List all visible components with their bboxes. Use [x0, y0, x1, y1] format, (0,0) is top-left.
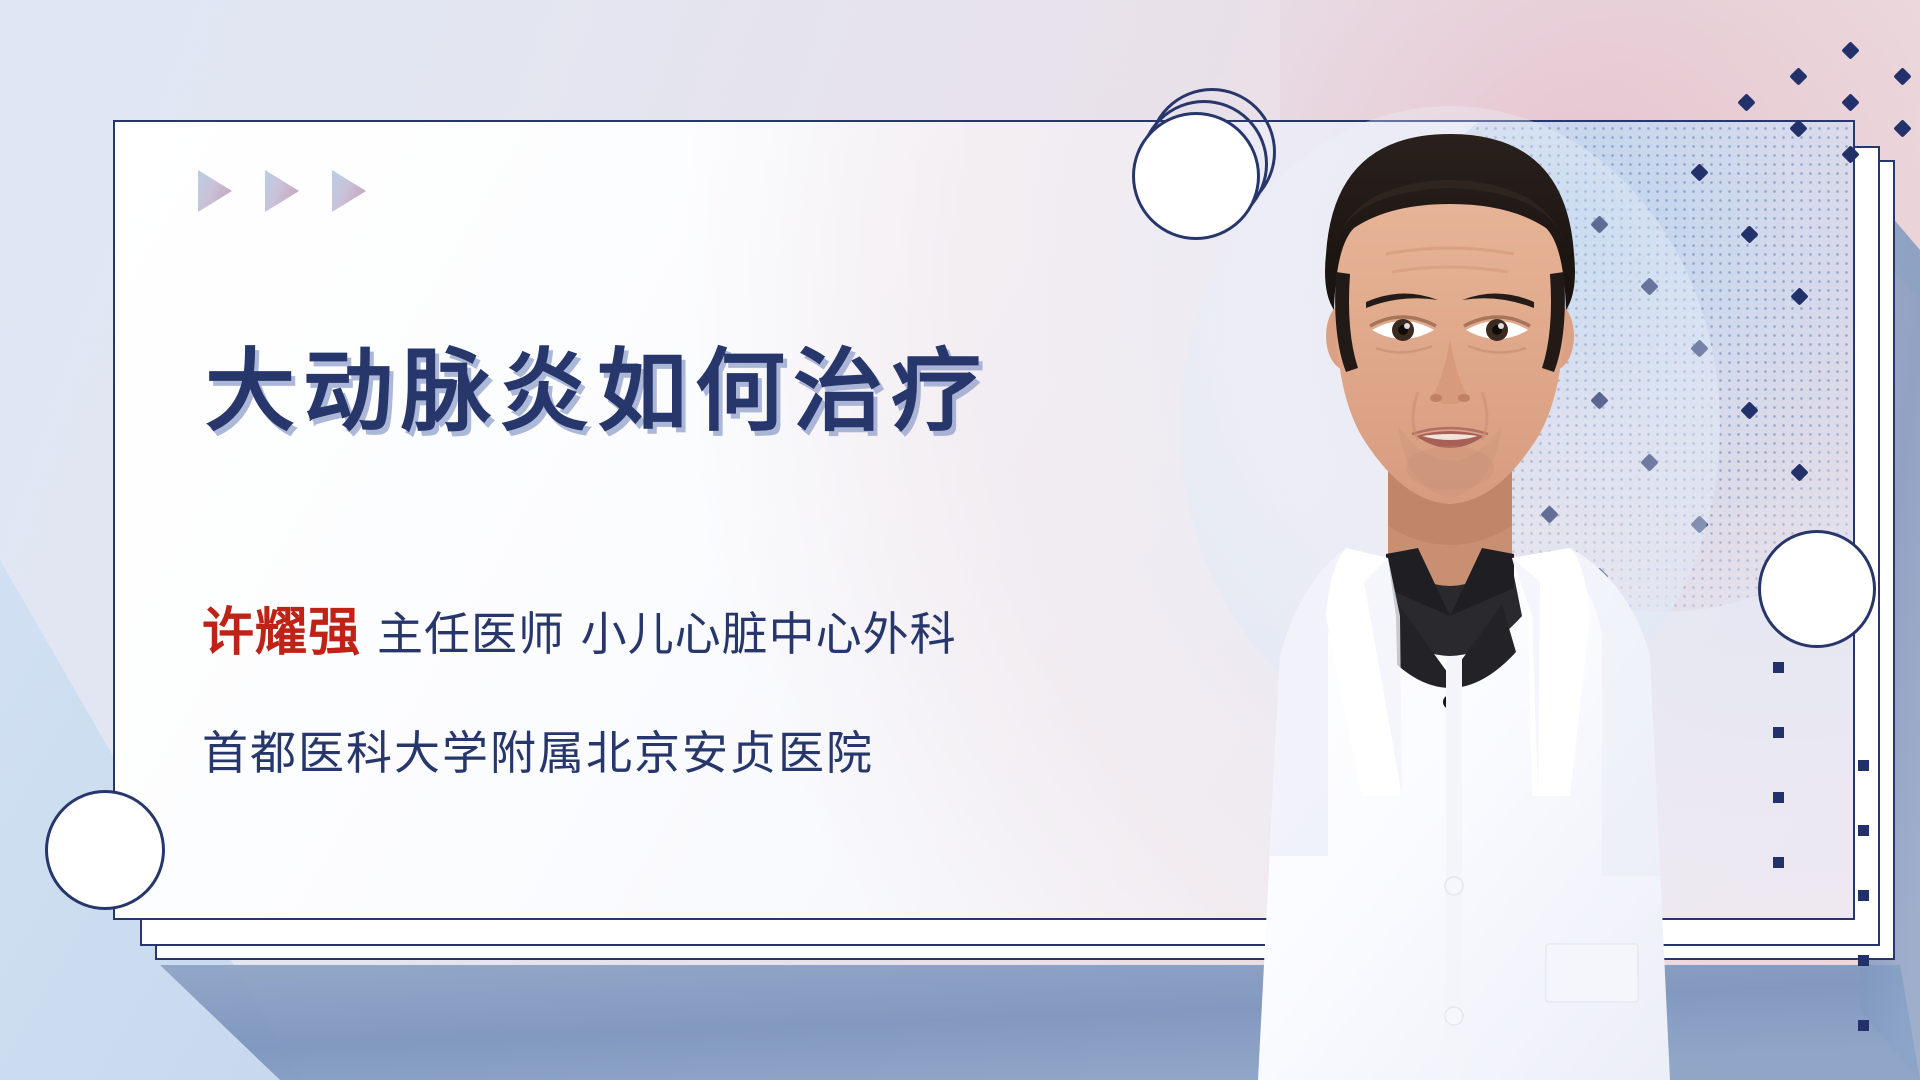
circle-outline-icon: [1132, 112, 1260, 240]
diamond-dot-icon: [1893, 67, 1911, 85]
halftone-circle-icon: [1383, 120, 1855, 612]
square-dot-icon: [1858, 1020, 1869, 1031]
square-dot-icon: [1858, 760, 1869, 771]
square-dot-icon: [1858, 955, 1869, 966]
diamond-dot-icon: [1841, 41, 1859, 59]
arrow-decoration-group: [198, 170, 366, 212]
square-dot-column-outer: [1858, 760, 1878, 1040]
diamond-dot-icon: [1789, 67, 1807, 85]
square-dot-icon: [1773, 662, 1784, 673]
square-dot-icon: [1773, 792, 1784, 803]
doctor-credentials-line: 许耀强 主任医师 小儿心脏中心外科: [202, 590, 957, 665]
diamond-dot-icon: [1737, 93, 1755, 111]
square-dot-icon: [1773, 727, 1784, 738]
play-triangle-icon: [198, 170, 232, 212]
diamond-dot-icon: [1841, 93, 1859, 111]
play-triangle-icon: [332, 170, 366, 212]
page-title: 大动脉炎如何治疗: [205, 318, 989, 448]
doctor-role: 主任医师 小儿心脏中心外科: [377, 598, 957, 664]
play-triangle-icon: [265, 170, 299, 212]
square-dot-icon: [1858, 825, 1869, 836]
doctor-hospital: 首都医科大学附属北京安贞医院: [202, 717, 874, 783]
diamond-dot-icon: [1893, 119, 1911, 137]
circle-outline-icon-bottom-left: [45, 790, 165, 910]
doctor-name: 许耀强: [202, 590, 361, 665]
square-dot-column-inner: [1773, 662, 1793, 920]
title-card: 大动脉炎如何治疗 许耀强 主任医师 小儿心脏中心外科 首都医科大学附属北京安贞医…: [113, 120, 1855, 920]
square-dot-icon: [1858, 890, 1869, 901]
square-dot-icon: [1773, 857, 1784, 868]
circle-outline-icon-right-middle: [1758, 530, 1876, 648]
